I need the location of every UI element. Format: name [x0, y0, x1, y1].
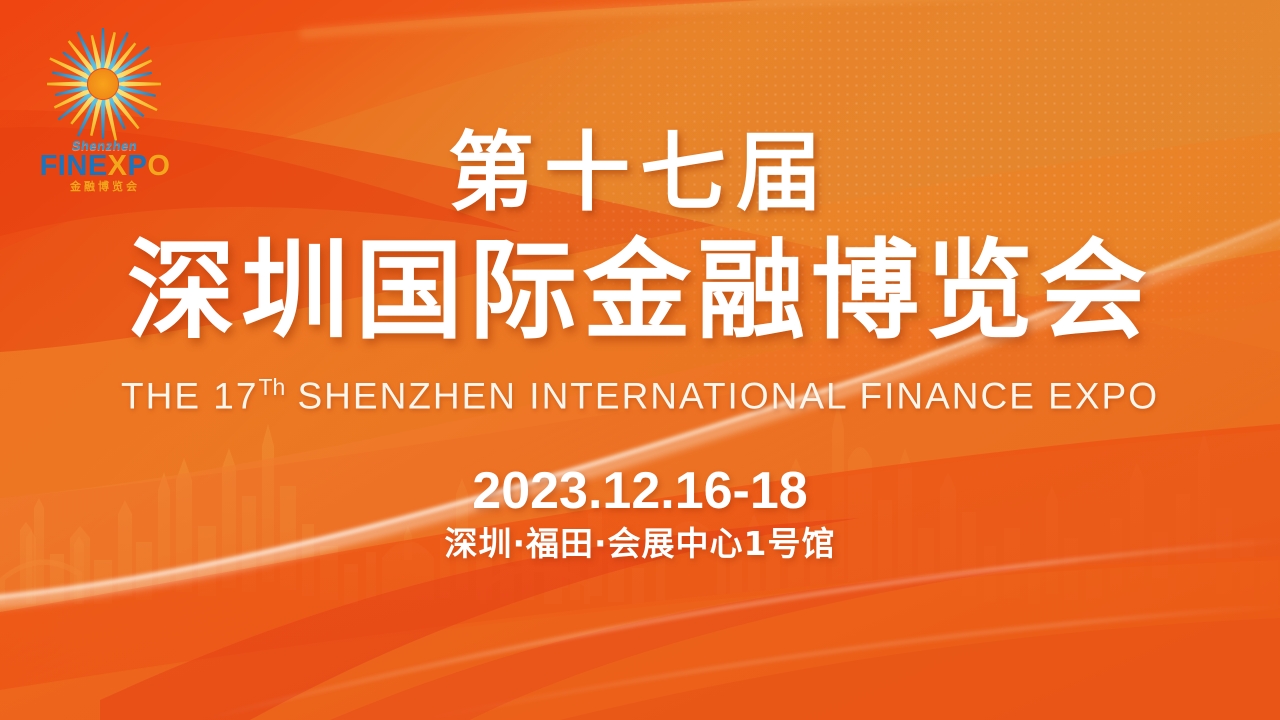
english-subtitle: THE 17Th SHENZHEN INTERNATIONAL FINANCE …	[0, 376, 1280, 414]
poster-content: 第十七届 深圳国际金融博览会 THE 17Th SHENZHEN INTERNA…	[0, 0, 1280, 720]
subtitle-prefix: THE 17	[121, 375, 258, 416]
event-venue: 深圳·福田·会展中心1号馆	[0, 527, 1280, 560]
edition-title: 第十七届	[0, 130, 1280, 216]
event-poster: Shenzhen FINEXPO 金融博览会 第十七届 深圳国际金融博览会 TH…	[0, 0, 1280, 720]
page-title: 深圳国际金融博览会	[0, 238, 1280, 346]
subtitle-ordinal-suffix: Th	[258, 374, 285, 400]
subtitle-rest: SHENZHEN INTERNATIONAL FINANCE EXPO	[285, 375, 1159, 416]
event-date: 2023.12.16-18	[0, 465, 1280, 517]
